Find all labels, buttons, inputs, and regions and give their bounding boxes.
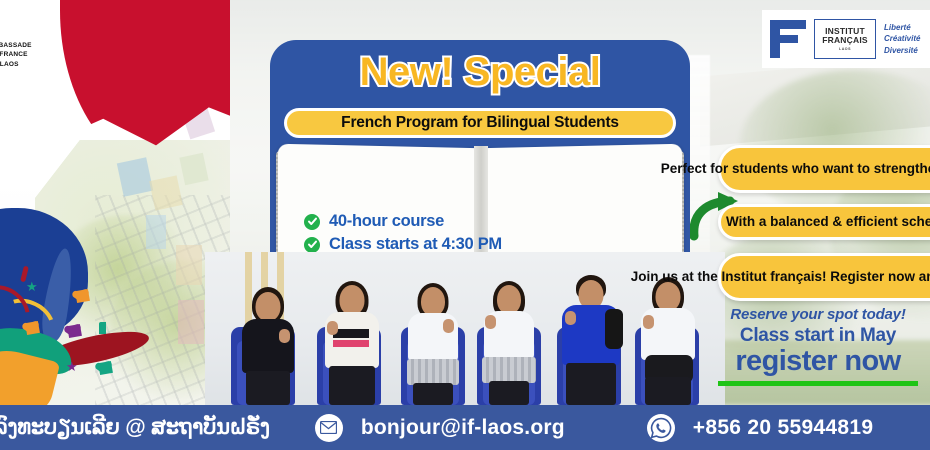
whatsapp-icon — [647, 414, 675, 442]
motto-line-2: Créativité — [884, 34, 920, 43]
contact-bar: ລົງທະບຽນເລີຍ @ ສະຖາບັນຝຣັ່ງ bonjour@if-l… — [0, 405, 930, 450]
check-circle-icon — [304, 214, 320, 230]
cta-line-2: Class start in May — [700, 325, 930, 347]
student-head — [421, 287, 445, 316]
student-legs — [246, 371, 290, 405]
student-legs — [413, 383, 453, 405]
motto-line-3: Diversité — [884, 46, 918, 55]
contact-email-text[interactable]: bonjour@if-laos.org — [361, 416, 565, 440]
student-skirt — [482, 357, 536, 383]
green-tick-shape — [99, 322, 106, 334]
student-head — [340, 285, 365, 315]
student-legs — [489, 381, 529, 405]
stained-tile — [146, 215, 166, 249]
ambassade-logo-text: AMBASSADE DE FRANCE AU LAOS — [0, 41, 32, 69]
motto-line-1: Liberté — [884, 23, 911, 32]
callout-box: Perfect for students who want to strengt… — [718, 145, 930, 193]
student — [633, 277, 703, 405]
poster-canvas: AMBASSADE DE FRANCE AU LAOS ★ ★ New! Spe… — [0, 0, 930, 450]
student-hand — [565, 311, 576, 325]
cta-register-now: register now — [700, 345, 930, 378]
star-shape: ★ — [66, 360, 78, 373]
student — [477, 281, 541, 405]
institut-francais-wordmark: INSTITUT FRANÇAIS LAOS — [814, 19, 876, 59]
if-f-mark-icon — [770, 20, 806, 58]
check-circle-icon — [304, 237, 320, 253]
institut-line-2: FRANÇAIS — [822, 36, 868, 45]
contact-lao-group: ລົງທະບຽນເລີຍ @ ສະຖາບັນຝຣັ່ງ — [0, 415, 270, 440]
contact-phone-text[interactable]: +856 20 55944819 — [693, 416, 874, 440]
shirt-graphic — [333, 329, 369, 338]
call-to-action: Reserve your spot today! Class start in … — [700, 306, 930, 386]
heart-shape — [98, 361, 113, 375]
student-head — [497, 285, 521, 314]
institut-francais-logo: INSTITUT FRANÇAIS LAOS Liberté Créativit… — [762, 10, 930, 68]
left-decorative-panel: AMBASSADE DE FRANCE AU LAOS ★ ★ — [0, 0, 230, 405]
contact-phone-group[interactable]: +856 20 55944819 — [565, 414, 874, 442]
envelope-icon — [315, 414, 343, 442]
program-subtitle-pill: French Program for Bilingual Students — [284, 108, 676, 138]
heart-shape — [75, 289, 90, 303]
heart-shape — [67, 324, 82, 338]
student-legs — [645, 377, 691, 405]
page-title: New! Special — [270, 50, 690, 95]
callout-box: With a balanced & efficient schedule — [718, 204, 930, 240]
contact-email-group[interactable]: bonjour@if-laos.org — [270, 414, 565, 442]
backpack — [605, 309, 623, 349]
heart-shape — [25, 321, 40, 335]
cta-underline — [718, 381, 918, 386]
callout-box: Join us at the Institut français! Regist… — [718, 253, 930, 301]
ambassade-de-france-logo: AMBASSADE DE FRANCE AU LAOS — [0, 23, 56, 87]
student-hand — [279, 329, 290, 343]
stained-tile — [178, 300, 204, 344]
student-head — [256, 292, 281, 321]
cta-line-1: Reserve your spot today! — [700, 306, 930, 323]
student — [235, 287, 301, 405]
student-skirt — [407, 359, 459, 385]
stained-tile — [176, 245, 202, 285]
institut-country: LAOS — [839, 47, 851, 51]
list-item: 40-hour course — [304, 212, 581, 231]
student — [319, 281, 385, 405]
student-hand — [443, 319, 454, 333]
student-legs — [566, 363, 616, 405]
institut-motto: Liberté Créativité Diversité — [884, 22, 920, 57]
contact-lao-text: ລົງທະບຽນເລີຍ @ ສະຖາບັນຝຣັ່ງ — [0, 415, 270, 440]
student-hand — [643, 315, 654, 329]
student-hand — [327, 321, 338, 335]
star-shape: ★ — [26, 280, 38, 293]
student — [555, 275, 627, 405]
student — [401, 283, 465, 405]
list-item-label: 40-hour course — [329, 212, 444, 231]
student-body — [242, 319, 294, 373]
stained-tile — [149, 175, 183, 210]
shirt-graphic — [333, 340, 369, 347]
student-legs — [329, 366, 375, 405]
student-head — [656, 282, 681, 311]
student-hand — [485, 315, 496, 329]
